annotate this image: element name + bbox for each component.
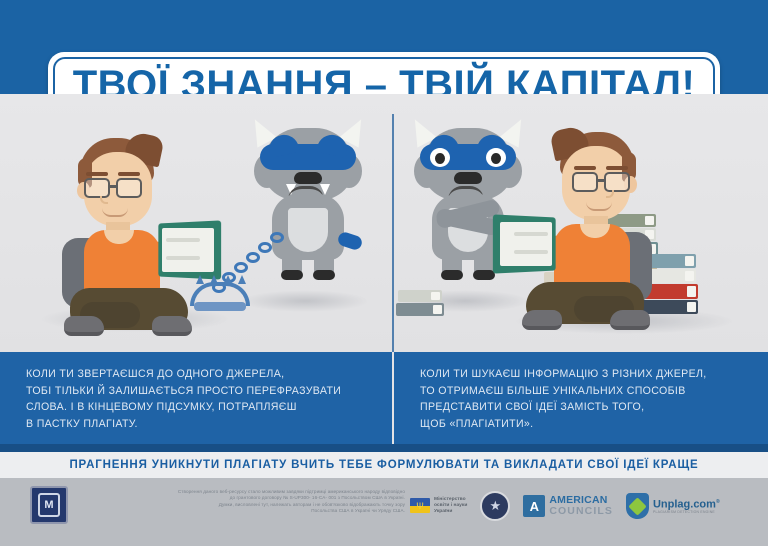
glasses-icon [562, 172, 630, 192]
panel-left-line-4: В ПАСТКУ ПЛАГІАТУ. [26, 416, 392, 433]
us-embassy-seal[interactable]: ★ [480, 491, 510, 521]
open-book [156, 222, 220, 278]
shoe-left [64, 316, 104, 336]
book-pages [685, 256, 694, 266]
eyebrow-right [574, 166, 596, 170]
ministry-logo-text: Міністерство освіти і науки України [434, 497, 467, 516]
book-page [500, 222, 552, 266]
wolf-foot-right [313, 270, 335, 280]
panel-left-line-1: КОЛИ ТИ ЗВЕРТАЄШСЯ ДО ОДНОГО ДЖЕРЕЛА, [26, 366, 392, 383]
trap-base [194, 302, 246, 311]
wolf-eye-left [430, 148, 450, 167]
american-councils-mark: A [523, 495, 545, 517]
disclaimer-line-4: Посольства США в Україні чи Уряду США. [80, 508, 405, 514]
american-councils-text: AMERICAN COUNCILS [549, 495, 613, 517]
panel-right-line-3: ПРЕДСТАВИТИ СВОЇ ІДЕЇ ЗАМІСТЬ ТОГО, [420, 399, 768, 416]
panel-left: КОЛИ ТИ ЗВЕРТАЄШСЯ ДО ОДНОГО ДЖЕРЕЛА, ТО… [0, 352, 392, 444]
trap-tooth [210, 275, 218, 284]
book-pages [431, 292, 440, 300]
tryzub-icon: Ψ [416, 501, 424, 511]
poster-root: ТВОЇ ЗНАННЯ – ТВІЙ КАПІТАЛ! [0, 0, 768, 546]
eyebrow-left [86, 172, 108, 176]
american-councils-line-2: COUNCILS [549, 506, 613, 517]
panel-right-line-4: ЩОБ «ПЛАГІАТИТИ». [420, 416, 768, 433]
wolf-snout [454, 172, 482, 184]
glasses-icon [84, 178, 152, 198]
shoe-right [152, 316, 192, 336]
panel-left-line-3: СЛОВА. І В КІНЦЕВОМУ ПІДСУМКУ, ПОТРАПЛЯЄ… [26, 399, 392, 416]
slogan-band: ПРАГНЕННЯ УНИКНУТИ ПЛАГІАТУ ВЧИТЬ ТЕБЕ Ф… [0, 452, 768, 478]
boy-reading-with-book-stacks [494, 124, 674, 334]
unplag-shield-icon [626, 493, 649, 519]
chain-link [234, 262, 248, 273]
trap-tooth [196, 275, 204, 284]
wolf-shadow-left [240, 290, 370, 312]
book-text-line [166, 238, 200, 242]
lens-right [572, 172, 598, 192]
panel-right: КОЛИ ТИ ШУКАЄШ ІНФОРМАЦІЮ З РІЗНИХ ДЖЕРЕ… [394, 352, 768, 444]
panel-left-line-2: ТОБІ ТІЛЬКИ Й ЗАЛИШАЄТЬСЯ ПРОСТО ПЕРЕФРА… [26, 383, 392, 400]
unplag-trademark: ® [716, 499, 720, 505]
panel-right-line-2: ТО ОТРИМАЄШ БІЛЬШЕ УНІКАЛЬНИХ СПОСОБІВ [420, 383, 768, 400]
shoe-left [610, 310, 650, 330]
emblem-crest: M [38, 493, 60, 517]
book-text-line [166, 256, 200, 260]
ministry-line-3: України [434, 509, 467, 515]
slogan-text: ПРАГНЕННЯ УНИКНУТИ ПЛАГІАТУ ВЧИТЬ ТЕБЕ Ф… [69, 459, 698, 471]
lens-left [604, 172, 630, 192]
center-divider [392, 114, 394, 352]
scene-left [0, 94, 392, 352]
university-emblem: M [30, 486, 68, 524]
plagiarism-wolf-holding-chain [248, 116, 368, 286]
shoe-right [522, 310, 562, 330]
eyebrow-left [606, 166, 628, 170]
book-text-line [514, 232, 548, 236]
lens-left [84, 178, 110, 198]
book [396, 303, 444, 316]
book-pages [687, 286, 696, 297]
wolf-mask [260, 144, 356, 170]
unplag-name: Unplag.com [653, 498, 716, 510]
lens-right [116, 178, 142, 198]
american-councils-logo[interactable]: A AMERICAN COUNCILS [523, 495, 613, 517]
book-pages [433, 305, 442, 314]
bear-trap [190, 282, 250, 312]
book-text-line [514, 250, 548, 254]
wolf-snout [294, 172, 322, 184]
pupil [435, 153, 445, 164]
chain-link [246, 252, 260, 263]
footer-disclaimer: Створення даного веб-ресурсу стало можли… [80, 489, 405, 515]
trap-tooth [224, 275, 232, 284]
ukraine-flag-icon: Ψ [410, 498, 430, 513]
book-pages [687, 302, 696, 312]
illustration-area [0, 94, 768, 352]
unplag-tagline: PLAGIARISM DETECTION ENGINE [653, 510, 720, 515]
book-pages [685, 271, 694, 281]
wolf-foot-left [281, 270, 303, 280]
book [398, 290, 442, 302]
chain-link [270, 232, 284, 243]
ministry-of-education-ukraine-logo[interactable]: Ψ Міністерство освіти і науки України [410, 497, 467, 516]
scene-right [394, 94, 768, 352]
unplag-logo[interactable]: Unplag.com® PLAGIARISM DETECTION ENGINE [626, 493, 720, 519]
seal-glyph: ★ [490, 498, 502, 514]
book-page [162, 228, 214, 272]
eyebrow-right [118, 172, 140, 176]
wolf-foot-right [473, 270, 495, 280]
slogan-top-rule [0, 444, 768, 452]
trap-tooth [238, 275, 246, 284]
ministry-line-1: Міністерство [434, 497, 467, 503]
open-book [494, 216, 558, 272]
unplag-shield-inner [628, 497, 646, 515]
panel-right-line-1: КОЛИ ТИ ШУКАЄШ ІНФОРМАЦІЮ З РІЗНИХ ДЖЕРЕ… [420, 366, 768, 383]
chain-link [258, 242, 272, 253]
wolf-foot-left [441, 270, 463, 280]
unplag-text: Unplag.com® PLAGIARISM DETECTION ENGINE [653, 497, 720, 516]
wolf-belly [288, 208, 328, 252]
unplag-wordmark: Unplag.com® [653, 497, 720, 511]
footer-logos: Ψ Міністерство освіти і науки України ★ … [410, 485, 755, 527]
